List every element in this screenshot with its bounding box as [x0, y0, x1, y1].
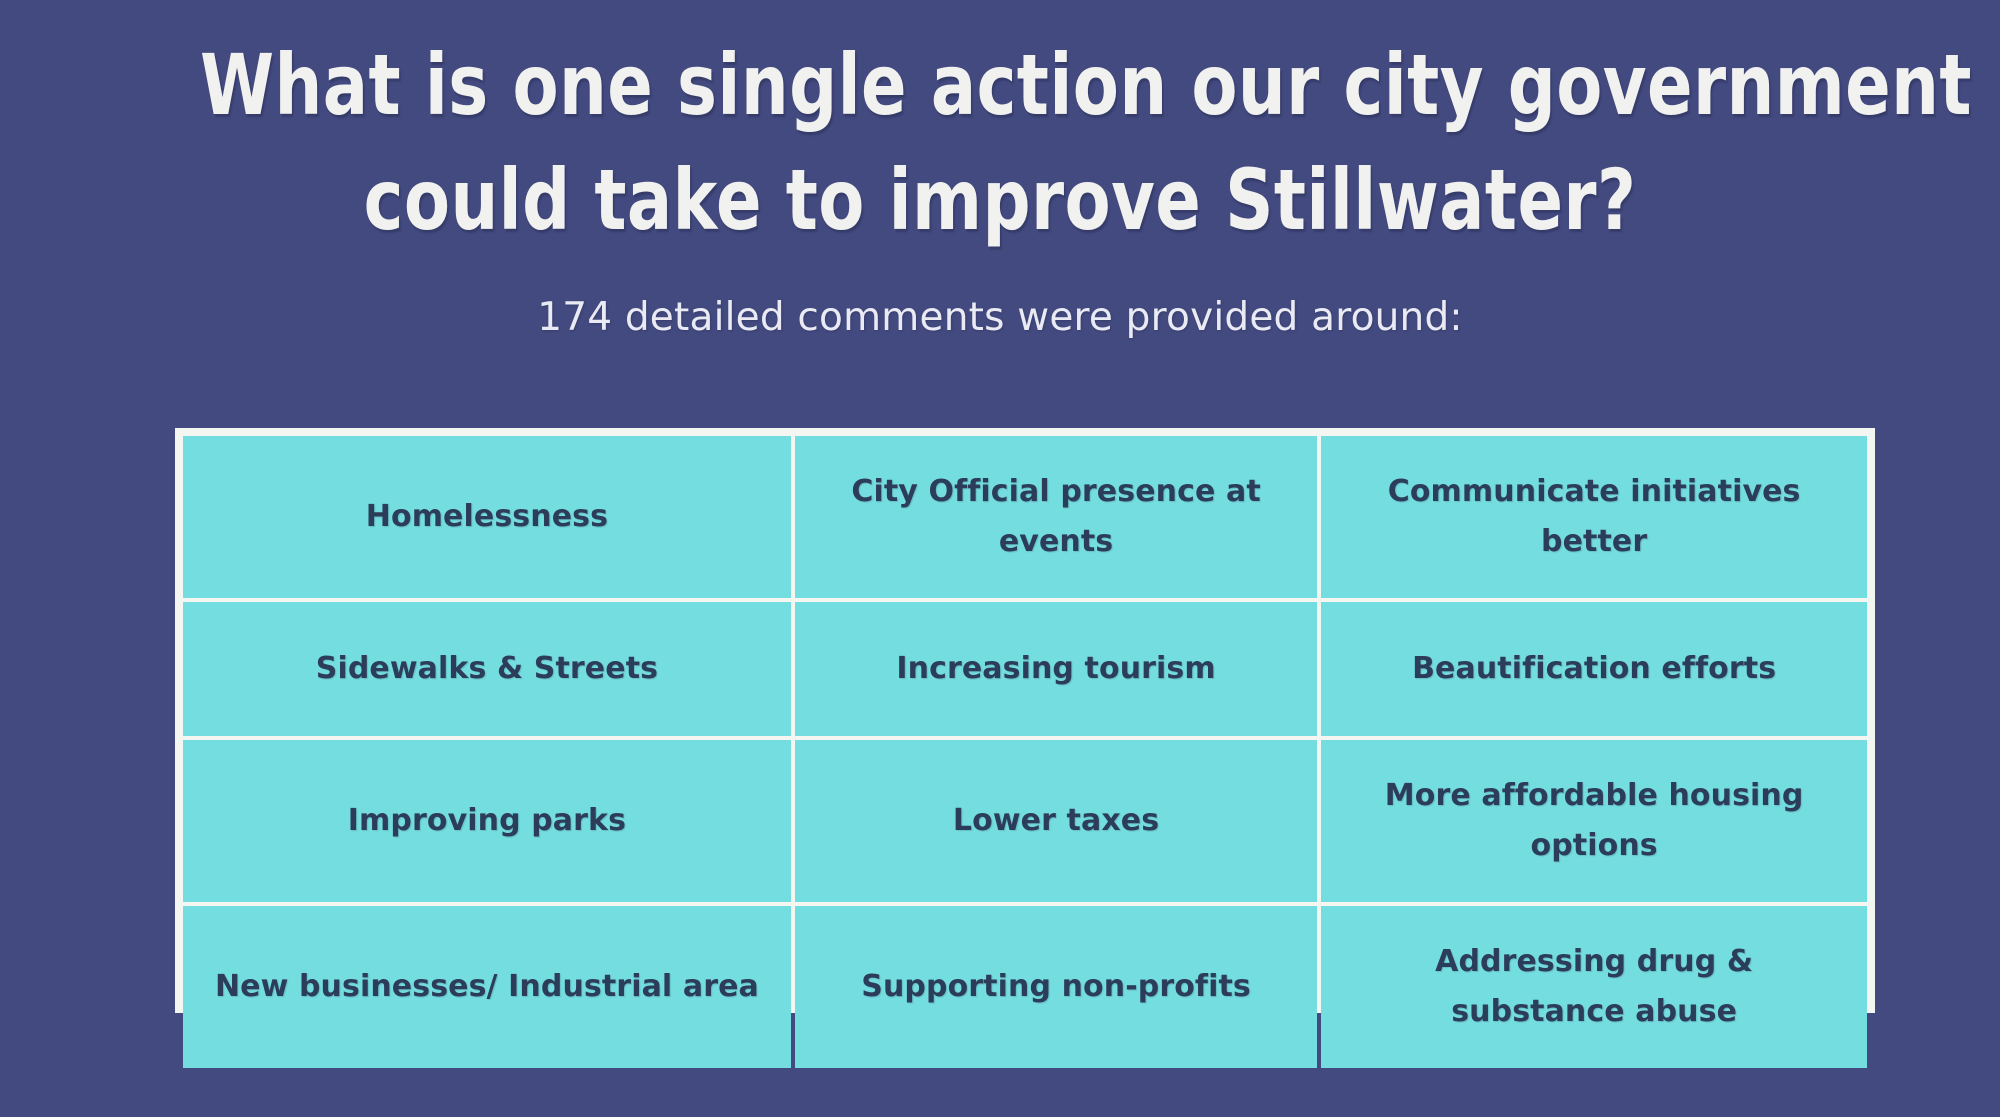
table-cell-r4c2: Supporting non-profits	[795, 906, 1317, 1068]
themes-table-container: Homelessness City Official presence at e…	[175, 428, 1875, 1013]
table-cell-r1c3: Communicate initiatives better	[1321, 436, 1867, 598]
table-cell-r1c1: Homelessness	[183, 436, 791, 598]
page-title-line-1: What is one single action our city gover…	[200, 28, 1800, 143]
table-cell-r1c2: City Official presence at events	[795, 436, 1317, 598]
table-cell-r2c1: Sidewalks & Streets	[183, 602, 791, 736]
table-cell-r3c2: Lower taxes	[795, 740, 1317, 902]
table-cell-r3c3: More affordable housing options	[1321, 740, 1867, 902]
table-row: New businesses/ Industrial area Supporti…	[183, 906, 1867, 1068]
themes-table: Homelessness City Official presence at e…	[179, 432, 1871, 1072]
table-row: Improving parks Lower taxes More afforda…	[183, 740, 1867, 902]
table-row: Homelessness City Official presence at e…	[183, 436, 1867, 598]
subtitle-text: 174 detailed comments were provided arou…	[0, 294, 2000, 342]
table-cell-r3c1: Improving parks	[183, 740, 791, 902]
page-title: What is one single action our city gover…	[0, 28, 2000, 258]
table-row: Sidewalks & Streets Increasing tourism B…	[183, 602, 1867, 736]
table-cell-r2c3: Beautification efforts	[1321, 602, 1867, 736]
slide-canvas: What is one single action our city gover…	[0, 0, 2000, 1117]
table-cell-r2c2: Increasing tourism	[795, 602, 1317, 736]
table-cell-r4c3: Addressing drug & substance abuse	[1321, 906, 1867, 1068]
page-title-line-2: could take to improve Stillwater?	[200, 143, 1800, 258]
table-cell-r4c1: New businesses/ Industrial area	[183, 906, 791, 1068]
